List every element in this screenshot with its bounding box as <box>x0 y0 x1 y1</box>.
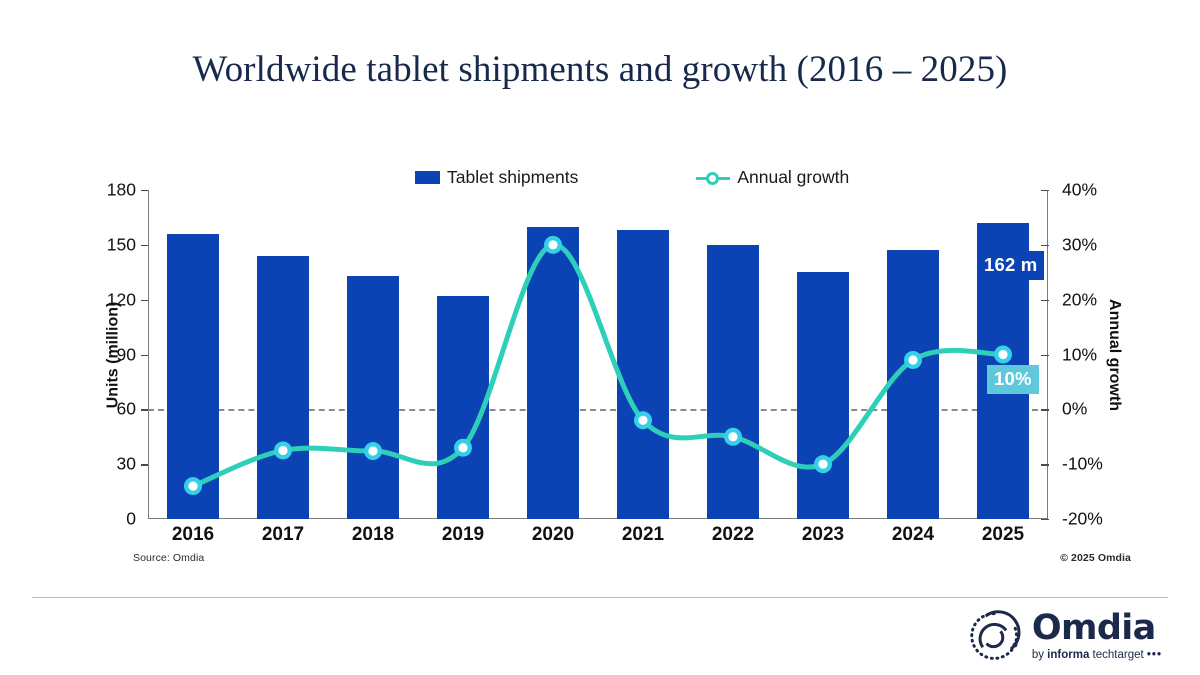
x-tick-label-2019: 2019 <box>442 524 484 546</box>
x-tick-label-2022: 2022 <box>712 524 754 546</box>
chart-legend: Tablet shipments Annual growth <box>415 167 849 188</box>
x-tick-label-2017: 2017 <box>262 524 304 546</box>
left-tick-label: 0 <box>126 509 136 530</box>
omdia-logo: Omdia by informa techtarget ••• <box>966 608 1162 664</box>
tagline-dots: ••• <box>1147 649 1162 661</box>
right-axis-title: Annual growth <box>1105 299 1123 411</box>
left-axis-title: Units (million) <box>104 301 122 408</box>
left-tick-mark <box>141 245 148 246</box>
line-value-callout-2025: 10% <box>987 365 1039 394</box>
right-tick-label: -10% <box>1062 454 1103 475</box>
left-tick-mark <box>141 355 148 356</box>
tagline-informa: informa <box>1047 649 1089 661</box>
marker-2021 <box>638 416 647 425</box>
bar-value-callout-2025: 162 m <box>977 251 1044 280</box>
growth-line <box>193 245 1003 486</box>
legend-item-tablet-shipments: Tablet shipments <box>415 167 578 188</box>
page-title: Worldwide tablet shipments and growth (2… <box>0 48 1200 91</box>
line-marker-icon <box>696 171 730 185</box>
left-tick-mark <box>141 300 148 301</box>
left-tick-label: 180 <box>107 180 136 201</box>
left-tick-label: 30 <box>117 454 136 475</box>
left-tick-label: 150 <box>107 234 136 255</box>
footer-divider <box>32 597 1168 598</box>
tagline-by: by <box>1032 649 1044 661</box>
right-tick-label: 20% <box>1062 289 1097 310</box>
right-tick-label: -20% <box>1062 509 1103 530</box>
marker-2020 <box>548 240 557 249</box>
right-tick-label: 30% <box>1062 234 1097 255</box>
marker-2024 <box>908 355 917 364</box>
right-tick-label: 40% <box>1062 180 1097 201</box>
x-tick-label-2024: 2024 <box>892 524 934 546</box>
omdia-logo-text: Omdia by informa techtarget ••• <box>1032 611 1162 662</box>
marker-2018 <box>368 446 377 455</box>
x-tick-label-2018: 2018 <box>352 524 394 546</box>
marker-2022 <box>728 432 737 441</box>
x-axis-tick-labels: 2016201720182019202020212022202320242025 <box>148 524 1048 554</box>
x-tick-label-2023: 2023 <box>802 524 844 546</box>
slide-canvas: Worldwide tablet shipments and growth (2… <box>0 0 1200 675</box>
left-tick-mark <box>141 409 148 410</box>
x-tick-label-2025: 2025 <box>982 524 1024 546</box>
chart-plot-area: 1801501209060300 40%30%20%10%0%-10%-20% … <box>148 190 1048 519</box>
marker-2019 <box>458 443 467 452</box>
legend-label-annual-growth: Annual growth <box>737 167 849 188</box>
left-tick-mark <box>141 190 148 191</box>
right-tick-label: 0% <box>1062 399 1087 420</box>
x-tick-label-2020: 2020 <box>532 524 574 546</box>
marker-2017 <box>278 446 287 455</box>
left-tick-mark <box>141 464 148 465</box>
omdia-tagline: by informa techtarget ••• <box>1032 650 1162 662</box>
right-tick-label: 10% <box>1062 344 1097 365</box>
x-tick-label-2016: 2016 <box>172 524 214 546</box>
omdia-swirl-icon <box>966 608 1022 664</box>
copyright-note: © 2025 Omdia <box>1060 552 1131 564</box>
legend-label-tablet-shipments: Tablet shipments <box>447 167 578 188</box>
marker-2023 <box>818 460 827 469</box>
marker-2025 <box>998 350 1007 359</box>
line-series <box>148 190 1048 519</box>
right-tick-mark <box>1041 519 1049 520</box>
legend-item-annual-growth: Annual growth <box>696 167 849 188</box>
blue-square-icon <box>415 171 440 184</box>
source-note: Source: Omdia <box>133 552 204 564</box>
marker-2016 <box>188 482 197 491</box>
tagline-techtarget: techtarget <box>1093 649 1144 661</box>
x-tick-label-2021: 2021 <box>622 524 664 546</box>
omdia-wordmark: Omdia <box>1032 611 1162 646</box>
